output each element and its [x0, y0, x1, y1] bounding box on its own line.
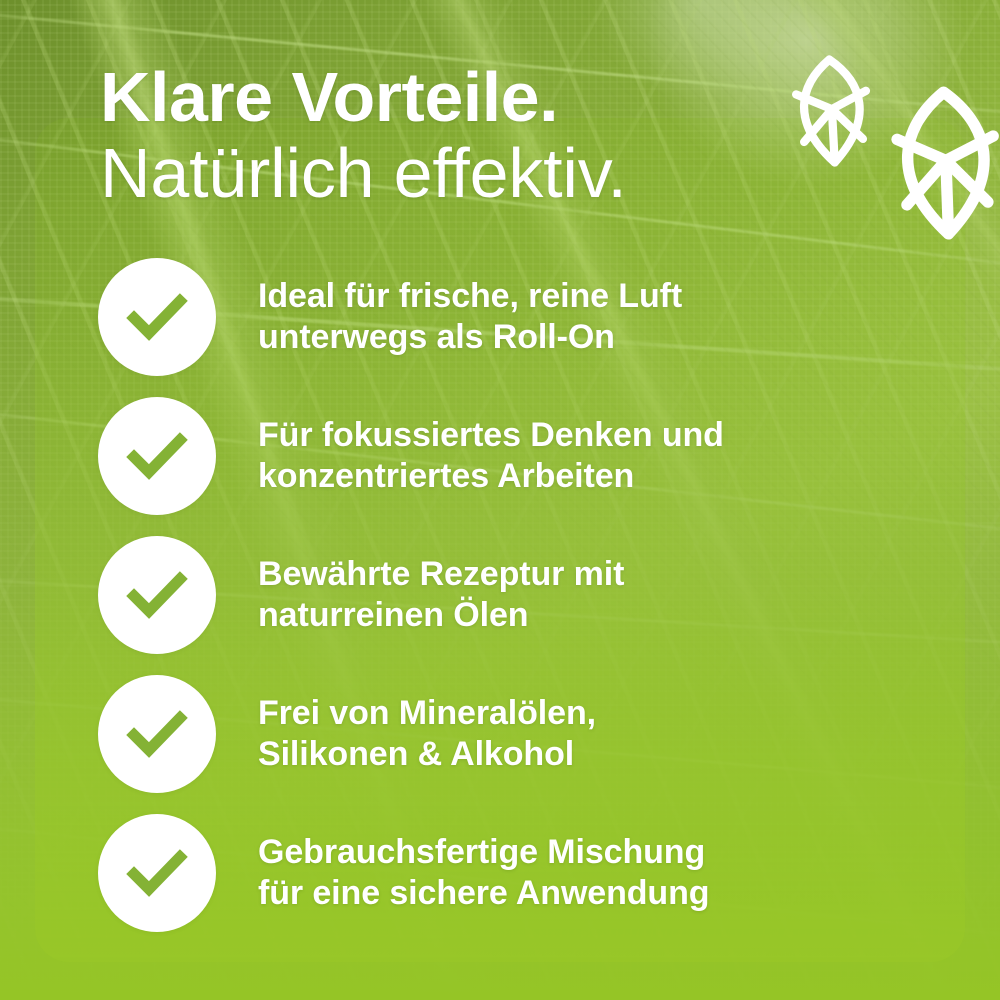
list-item-label: Gebrauchsfertige Mischung für eine siche…: [258, 832, 709, 915]
list-item-line-2: konzentriertes Arbeiten: [258, 456, 724, 497]
list-item-label: Für fokussiertes Denken und konzentriert…: [258, 415, 724, 498]
list-item-line-2: Silikonen & Alkohol: [258, 734, 596, 775]
headline-line-2: Natürlich effektiv.: [100, 138, 627, 208]
headline-line-1: Klare Vorteile.: [100, 62, 627, 132]
list-item-line-1: Frei von Mineralölen,: [258, 693, 596, 734]
list-item-line-1: Gebrauchsfertige Mischung: [258, 832, 709, 873]
check-icon: [98, 397, 216, 515]
list-item: Frei von Mineralölen, Silikonen & Alkoho…: [98, 675, 928, 814]
promo-poster: Klare Vorteile. Natürlich effektiv. Idea…: [0, 0, 1000, 1000]
list-item-line-2: naturreinen Ölen: [258, 595, 624, 636]
page-title: Klare Vorteile. Natürlich effektiv.: [100, 62, 627, 208]
check-icon: [98, 814, 216, 932]
check-icon: [98, 536, 216, 654]
list-item-line-1: Ideal für frische, reine Luft: [258, 276, 682, 317]
list-item-label: Frei von Mineralölen, Silikonen & Alkoho…: [258, 693, 596, 776]
check-icon: [98, 675, 216, 793]
benefits-list: Ideal für frische, reine Luft unterwegs …: [98, 258, 928, 953]
list-item: Gebrauchsfertige Mischung für eine siche…: [98, 814, 928, 953]
list-item: Bewährte Rezeptur mit naturreinen Ölen: [98, 536, 928, 675]
list-item-line-1: Für fokussiertes Denken und: [258, 415, 724, 456]
list-item-line-1: Bewährte Rezeptur mit: [258, 554, 624, 595]
list-item-line-2: für eine sichere Anwendung: [258, 873, 709, 914]
check-icon: [98, 258, 216, 376]
list-item-label: Ideal für frische, reine Luft unterwegs …: [258, 276, 682, 359]
list-item: Für fokussiertes Denken und konzentriert…: [98, 397, 928, 536]
list-item-label: Bewährte Rezeptur mit naturreinen Ölen: [258, 554, 624, 637]
list-item: Ideal für frische, reine Luft unterwegs …: [98, 258, 928, 397]
poster-content: Klare Vorteile. Natürlich effektiv. Idea…: [0, 0, 1000, 1000]
list-item-line-2: unterwegs als Roll-On: [258, 317, 682, 358]
